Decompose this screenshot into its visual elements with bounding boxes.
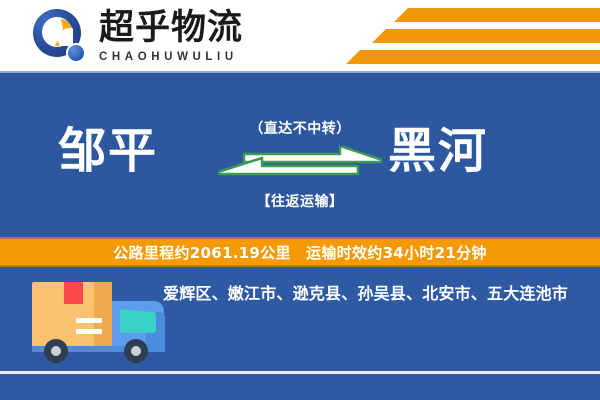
logo-dot-icon (66, 43, 86, 63)
truck-cargo-line-2 (76, 329, 102, 334)
double-headed-arrow-icon (218, 146, 382, 186)
direct-service-note: （直达不中转） (0, 118, 600, 138)
brand-logo-icon (33, 9, 91, 65)
road-line (0, 371, 600, 374)
stripe-1 (394, 8, 600, 22)
truck-wheel-hub-front (131, 346, 141, 356)
stripe-2 (372, 29, 600, 43)
delivery-truck-icon (24, 276, 166, 372)
distance-duration-text: 公路里程约2061.19公里 运输时效约34小时21分钟 (113, 242, 486, 263)
header-bar: 超乎物流 CHAOHUWULIU (0, 0, 600, 73)
brand-name-block: 超乎物流 CHAOHUWULIU (99, 8, 279, 64)
truck-cargo-line-1 (76, 318, 102, 323)
stripe-3 (346, 50, 600, 64)
coverage-areas-text: 爱辉区、嫩江市、逊克县、孙吴县、北安市、五大连池市 (163, 281, 583, 306)
brand-name-cn: 超乎物流 (99, 8, 279, 48)
roundtrip-note: 【往返运输】 (0, 191, 600, 211)
truck-cargo-shade (94, 282, 112, 349)
brand-name-en: CHAOHUWULIU (99, 50, 279, 64)
truck-wheel-hub-rear (51, 346, 61, 356)
truck-wheel-rear (44, 339, 68, 363)
poster-canvas: 超乎物流 CHAOHUWULIU 邹平 黑河 （直达不中转） 【往返运输】 公路… (0, 0, 600, 400)
truck-wheel-front (124, 339, 148, 363)
truck-window (120, 309, 156, 333)
distance-duration-bar: 公路里程约2061.19公里 运输时效约34小时21分钟 (0, 237, 600, 267)
truck-cargo-tape (64, 282, 83, 304)
decorative-stripes (346, 8, 600, 66)
